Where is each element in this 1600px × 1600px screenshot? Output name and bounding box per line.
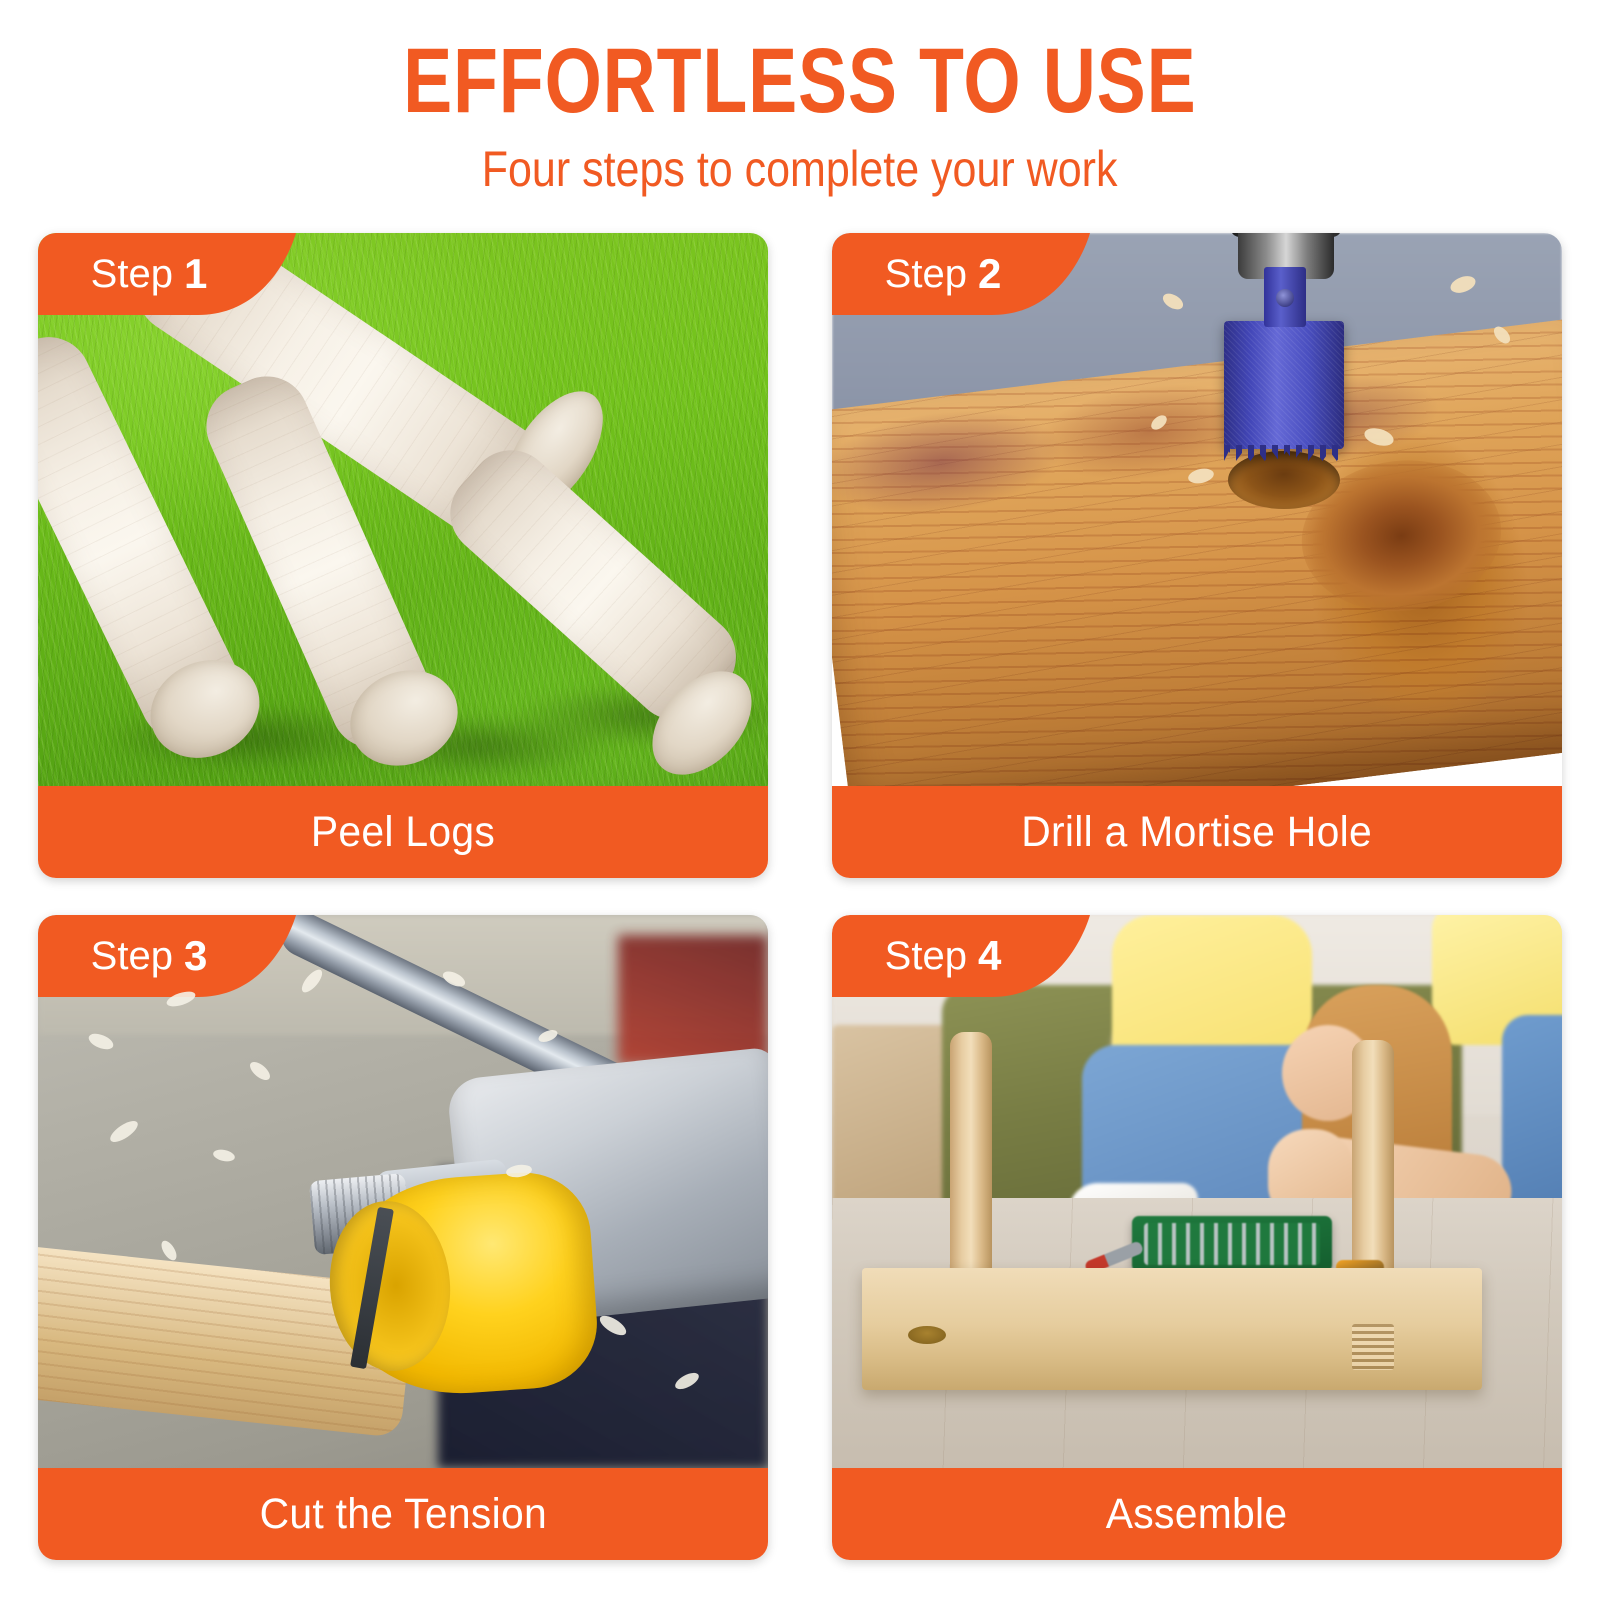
step-number: 4 (978, 932, 1001, 980)
step-number: 1 (184, 250, 207, 298)
step-2-caption-bar: Drill a Mortise Hole (832, 786, 1562, 878)
step-word: Step (91, 934, 173, 979)
step-number: 2 (978, 250, 1001, 298)
step-4-badge-label: Step4 (832, 915, 1054, 997)
step-3-caption: Cut the Tension (259, 1490, 546, 1539)
table-leg-tenon (1352, 1324, 1394, 1370)
step-word: Step (885, 934, 967, 979)
step-3-badge-label: Step3 (38, 915, 260, 997)
step-2-badge-label: Step2 (832, 233, 1054, 315)
steps-grid: Step1 Peel Logs (38, 233, 1562, 1560)
step-3-badge: Step3 (38, 915, 296, 997)
infographic-page: EFFORTLESS TO USE Four steps to complete… (0, 0, 1600, 1600)
step-2-caption: Drill a Mortise Hole (1022, 808, 1373, 857)
page-title: EFFORTLESS TO USE (403, 36, 1196, 126)
step-card-1[interactable]: Step1 Peel Logs (38, 233, 768, 878)
step-2-photo (832, 233, 1562, 786)
step-1-caption: Peel Logs (311, 808, 495, 857)
background-object-red (618, 935, 768, 1065)
step-number: 3 (184, 932, 207, 980)
hole-saw-bit (1224, 321, 1344, 449)
step-2-badge: Step2 (832, 233, 1090, 315)
step-1-badge-label: Step1 (38, 233, 260, 315)
drill-bit-case (1132, 1216, 1332, 1272)
step-4-caption-bar: Assemble (832, 1468, 1562, 1560)
mortise-hole (908, 1326, 946, 1344)
step-1-caption-bar: Peel Logs (38, 786, 768, 878)
step-3-caption-bar: Cut the Tension (38, 1468, 768, 1560)
step-card-2[interactable]: Step2 Drill a Mortise Hole (832, 233, 1562, 878)
arbor-screw (1276, 289, 1294, 307)
step-3-photo (38, 915, 768, 1468)
step-4-badge: Step4 (832, 915, 1090, 997)
step-word: Step (91, 252, 173, 297)
step-4-photo (832, 915, 1562, 1468)
header: EFFORTLESS TO USE Four steps to complete… (0, 0, 1600, 210)
step-card-3[interactable]: Step3 Cut the Tension (38, 915, 768, 1560)
page-subtitle: Four steps to complete your work (482, 144, 1118, 194)
step-4-caption: Assemble (1106, 1490, 1288, 1539)
step-card-4[interactable]: Step4 Assemble (832, 915, 1562, 1560)
step-word: Step (885, 252, 967, 297)
step-1-badge: Step1 (38, 233, 296, 315)
step-1-photo (38, 233, 768, 786)
